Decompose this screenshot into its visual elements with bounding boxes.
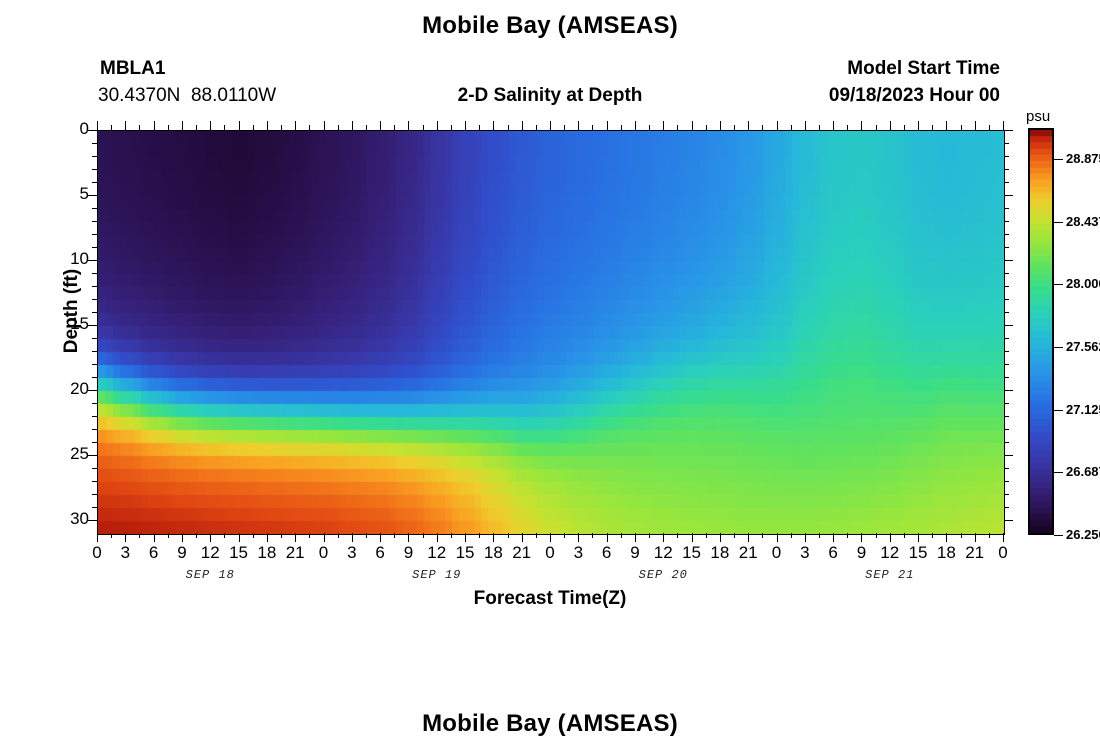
y-axis-minor-tick <box>92 507 97 508</box>
x-axis-tick <box>692 533 693 542</box>
y-axis-minor-tick <box>92 221 97 222</box>
x-axis-tick-top <box>720 121 721 130</box>
colorbar-unit-label: psu <box>1026 108 1050 125</box>
y-axis-minor-tick-right <box>1004 312 1009 313</box>
x-axis-minor-tick <box>592 533 593 538</box>
x-axis-tick-top <box>918 121 919 130</box>
y-axis-tick-right <box>1004 260 1013 261</box>
y-axis-tick <box>88 260 97 261</box>
x-axis-tick-top <box>748 121 749 130</box>
x-axis-tick <box>550 533 551 542</box>
y-axis-tick-right <box>1004 130 1013 131</box>
model-start-time-value: 09/18/2023 Hour 00 <box>700 85 1000 107</box>
x-axis-minor-tick <box>394 533 395 538</box>
x-axis-minor-tick <box>536 533 537 538</box>
y-axis-tick-label: 25 <box>49 444 89 464</box>
x-axis-tick <box>1003 533 1004 542</box>
x-axis-minor-tick-top <box>762 125 763 130</box>
colorbar-tick-label: 26.6875 <box>1066 464 1100 479</box>
x-axis-tick <box>805 533 806 542</box>
x-axis-minor-tick-top <box>904 125 905 130</box>
x-axis-minor-tick-top <box>451 125 452 130</box>
x-axis-minor-tick <box>281 533 282 538</box>
x-axis-minor-tick <box>196 533 197 538</box>
page-title-top: Mobile Bay (AMSEAS) <box>0 12 1100 40</box>
x-axis-minor-tick-top <box>932 125 933 130</box>
y-axis-tick <box>88 325 97 326</box>
x-axis-tick-top <box>437 121 438 130</box>
y-axis-minor-tick <box>92 377 97 378</box>
x-axis-tick-top <box>692 121 693 130</box>
colorbar-tick <box>1054 410 1063 411</box>
y-axis-minor-tick <box>92 468 97 469</box>
x-axis-tick <box>465 533 466 542</box>
x-axis-tick-top <box>578 121 579 130</box>
y-axis-minor-tick-right <box>1004 364 1009 365</box>
y-axis-tick-label: 0 <box>49 119 89 139</box>
colorbar-tick <box>1054 159 1063 160</box>
x-axis-tick-top <box>635 121 636 130</box>
y-axis-minor-tick <box>92 169 97 170</box>
y-axis-minor-tick-right <box>1004 468 1009 469</box>
y-axis-minor-tick <box>92 286 97 287</box>
colorbar-tick-label: 27.1250 <box>1066 402 1100 417</box>
colorbar-tick-label: 28.0000 <box>1066 276 1100 291</box>
x-axis-minor-tick-top <box>847 125 848 130</box>
y-axis-minor-tick <box>92 156 97 157</box>
x-axis-tick-top <box>239 121 240 130</box>
x-axis-minor-tick <box>762 533 763 538</box>
y-axis-minor-tick-right <box>1004 494 1009 495</box>
colorbar-tick <box>1054 472 1063 473</box>
y-axis-tick-right <box>1004 195 1013 196</box>
x-axis-tick-top <box>352 121 353 130</box>
y-axis-tick-label: 5 <box>49 184 89 204</box>
x-axis-tick <box>352 533 353 542</box>
x-axis-tick <box>890 533 891 542</box>
x-axis-tick-top <box>295 121 296 130</box>
y-axis-minor-tick-right <box>1004 429 1009 430</box>
x-axis-minor-tick <box>224 533 225 538</box>
colorbar-tick-label: 28.8750 <box>1066 151 1100 166</box>
x-axis-minor-tick-top <box>423 125 424 130</box>
x-axis-minor-tick-top <box>734 125 735 130</box>
y-axis-minor-tick-right <box>1004 143 1009 144</box>
y-axis-minor-tick <box>92 247 97 248</box>
y-axis-minor-tick <box>92 403 97 404</box>
x-axis-minor-tick <box>309 533 310 538</box>
x-axis-tick-top <box>182 121 183 130</box>
y-axis-minor-tick <box>92 312 97 313</box>
x-axis-minor-tick <box>876 533 877 538</box>
x-axis-minor-tick-top <box>366 125 367 130</box>
x-axis-minor-tick <box>508 533 509 538</box>
x-axis-tick <box>324 533 325 542</box>
y-axis-tick <box>88 520 97 521</box>
x-axis-tick-top <box>522 121 523 130</box>
y-axis-minor-tick-right <box>1004 416 1009 417</box>
y-axis-minor-tick-right <box>1004 221 1009 222</box>
x-axis-tick <box>154 533 155 542</box>
x-axis-minor-tick <box>847 533 848 538</box>
x-axis-tick-top <box>1003 121 1004 130</box>
y-axis-minor-tick-right <box>1004 273 1009 274</box>
y-axis-minor-tick <box>92 364 97 365</box>
y-axis-tick-label: 30 <box>49 509 89 529</box>
x-axis-minor-tick-top <box>508 125 509 130</box>
x-axis-minor-tick-top <box>989 125 990 130</box>
x-axis-tick <box>663 533 664 542</box>
x-axis-tick <box>125 533 126 542</box>
x-axis-minor-tick-top <box>196 125 197 130</box>
x-axis-tick-top <box>777 121 778 130</box>
model-start-time-label: Model Start Time <box>700 58 1000 80</box>
x-axis-minor-tick-top <box>961 125 962 130</box>
x-axis-tick-top <box>946 121 947 130</box>
x-axis-minor-tick-top <box>224 125 225 130</box>
x-axis-minor-tick <box>791 533 792 538</box>
colorbar-tick <box>1054 284 1063 285</box>
x-axis-tick <box>182 533 183 542</box>
x-axis-minor-tick-top <box>168 125 169 130</box>
y-axis-minor-tick <box>92 143 97 144</box>
y-axis-tick <box>88 195 97 196</box>
y-axis-minor-tick <box>92 299 97 300</box>
x-axis-tick <box>267 533 268 542</box>
x-axis-minor-tick <box>677 533 678 538</box>
y-axis-tick-right <box>1004 455 1013 456</box>
x-axis-tick <box>748 533 749 542</box>
x-axis-tick <box>210 533 211 542</box>
x-axis-tick <box>720 533 721 542</box>
x-axis-tick <box>97 533 98 542</box>
x-axis-tick <box>975 533 976 542</box>
y-axis-tick <box>88 455 97 456</box>
x-axis-minor-tick <box>479 533 480 538</box>
y-axis-minor-tick <box>92 442 97 443</box>
colorbar-tick <box>1054 535 1063 536</box>
x-axis-tick-top <box>408 121 409 130</box>
y-axis-minor-tick <box>92 416 97 417</box>
x-axis-minor-tick-top <box>253 125 254 130</box>
y-axis-minor-tick-right <box>1004 507 1009 508</box>
y-axis-minor-tick <box>92 234 97 235</box>
x-axis-tick <box>777 533 778 542</box>
y-axis-tick <box>88 130 97 131</box>
x-axis-minor-tick <box>564 533 565 538</box>
x-axis-minor-tick-top <box>876 125 877 130</box>
x-axis-tick <box>635 533 636 542</box>
colorbar-tick <box>1054 347 1063 348</box>
x-axis-minor-tick <box>139 533 140 538</box>
x-axis-minor-tick <box>621 533 622 538</box>
x-axis-day-label: SEP 18 <box>150 568 270 582</box>
x-axis-minor-tick-top <box>309 125 310 130</box>
x-axis-minor-tick-top <box>819 125 820 130</box>
x-axis-tick-top <box>663 121 664 130</box>
colorbar-tick-label: 28.4375 <box>1066 214 1100 229</box>
y-axis-minor-tick-right <box>1004 156 1009 157</box>
x-axis-minor-tick <box>706 533 707 538</box>
x-axis-minor-tick <box>734 533 735 538</box>
y-axis-minor-tick-right <box>1004 299 1009 300</box>
x-axis-tick-top <box>493 121 494 130</box>
y-axis-tick-right <box>1004 520 1013 521</box>
x-axis-minor-tick-top <box>791 125 792 130</box>
x-axis-minor-tick-top <box>592 125 593 130</box>
y-axis-minor-tick <box>92 182 97 183</box>
x-axis-tick <box>437 533 438 542</box>
y-axis-minor-tick-right <box>1004 338 1009 339</box>
x-axis-tick-label: 0 <box>983 543 1023 563</box>
x-axis-tick-top <box>380 121 381 130</box>
x-axis-title: Forecast Time(Z) <box>0 588 1100 610</box>
y-axis-minor-tick <box>92 338 97 339</box>
x-axis-minor-tick <box>961 533 962 538</box>
x-axis-minor-tick <box>366 533 367 538</box>
x-axis-tick <box>918 533 919 542</box>
x-axis-minor-tick <box>168 533 169 538</box>
y-axis-minor-tick-right <box>1004 182 1009 183</box>
x-axis-tick <box>607 533 608 542</box>
colorbar-tick-label: 27.5625 <box>1066 339 1100 354</box>
x-axis-minor-tick <box>253 533 254 538</box>
colorbar-tick-label: 26.2500 <box>1066 527 1100 542</box>
salinity-heatmap-canvas <box>98 131 1004 534</box>
y-axis-minor-tick-right <box>1004 481 1009 482</box>
x-axis-tick-top <box>267 121 268 130</box>
x-axis-tick-top <box>210 121 211 130</box>
x-axis-minor-tick-top <box>536 125 537 130</box>
y-axis-minor-tick <box>92 208 97 209</box>
x-axis-minor-tick-top <box>479 125 480 130</box>
x-axis-minor-tick <box>649 533 650 538</box>
x-axis-tick-top <box>975 121 976 130</box>
x-axis-minor-tick-top <box>338 125 339 130</box>
x-axis-day-label: SEP 19 <box>377 568 497 582</box>
colorbar <box>1028 128 1054 535</box>
x-axis-tick <box>408 533 409 542</box>
colorbar-canvas <box>1028 128 1054 535</box>
y-axis-minor-tick-right <box>1004 286 1009 287</box>
y-axis-minor-tick-right <box>1004 351 1009 352</box>
x-axis-tick <box>493 533 494 542</box>
x-axis-tick-top <box>125 121 126 130</box>
station-id: MBLA1 <box>100 58 165 80</box>
x-axis-minor-tick <box>111 533 112 538</box>
y-axis-minor-tick <box>92 481 97 482</box>
y-axis-minor-tick-right <box>1004 403 1009 404</box>
x-axis-tick-top <box>324 121 325 130</box>
x-axis-minor-tick <box>904 533 905 538</box>
y-axis-minor-tick-right <box>1004 169 1009 170</box>
y-axis-tick-right <box>1004 390 1013 391</box>
x-axis-minor-tick <box>451 533 452 538</box>
x-axis-tick-top <box>805 121 806 130</box>
x-axis-tick <box>380 533 381 542</box>
x-axis-tick-top <box>550 121 551 130</box>
x-axis-minor-tick-top <box>621 125 622 130</box>
y-axis-minor-tick-right <box>1004 234 1009 235</box>
x-axis-minor-tick-top <box>564 125 565 130</box>
y-axis-minor-tick <box>92 273 97 274</box>
x-axis-tick <box>946 533 947 542</box>
y-axis-minor-tick-right <box>1004 442 1009 443</box>
x-axis-tick-top <box>833 121 834 130</box>
x-axis-tick <box>239 533 240 542</box>
x-axis-minor-tick-top <box>706 125 707 130</box>
x-axis-minor-tick <box>932 533 933 538</box>
x-axis-minor-tick-top <box>677 125 678 130</box>
page-title-bottom: Mobile Bay (AMSEAS) <box>0 710 1100 738</box>
x-axis-minor-tick <box>989 533 990 538</box>
x-axis-minor-tick-top <box>649 125 650 130</box>
x-axis-minor-tick <box>819 533 820 538</box>
x-axis-tick-top <box>97 121 98 130</box>
x-axis-minor-tick <box>338 533 339 538</box>
y-axis-minor-tick <box>92 351 97 352</box>
y-axis-minor-tick-right <box>1004 208 1009 209</box>
x-axis-tick-top <box>154 121 155 130</box>
x-axis-tick-top <box>890 121 891 130</box>
y-axis-tick-right <box>1004 325 1013 326</box>
x-axis-day-label: SEP 20 <box>603 568 723 582</box>
x-axis-tick <box>522 533 523 542</box>
y-axis-minor-tick-right <box>1004 247 1009 248</box>
y-axis-minor-tick <box>92 494 97 495</box>
x-axis-minor-tick-top <box>139 125 140 130</box>
y-axis-minor-tick <box>92 429 97 430</box>
salinity-heatmap-plot <box>97 130 1005 535</box>
colorbar-tick <box>1054 222 1063 223</box>
y-axis-tick <box>88 390 97 391</box>
x-axis-minor-tick-top <box>281 125 282 130</box>
x-axis-day-label: SEP 21 <box>830 568 950 582</box>
x-axis-tick-top <box>607 121 608 130</box>
x-axis-tick-top <box>465 121 466 130</box>
x-axis-minor-tick-top <box>394 125 395 130</box>
x-axis-minor-tick-top <box>111 125 112 130</box>
x-axis-tick <box>861 533 862 542</box>
x-axis-tick <box>833 533 834 542</box>
x-axis-tick-top <box>861 121 862 130</box>
x-axis-tick <box>295 533 296 542</box>
y-axis-title: Depth (ft) <box>61 231 83 391</box>
y-axis-minor-tick-right <box>1004 377 1009 378</box>
x-axis-minor-tick <box>423 533 424 538</box>
x-axis-tick <box>578 533 579 542</box>
